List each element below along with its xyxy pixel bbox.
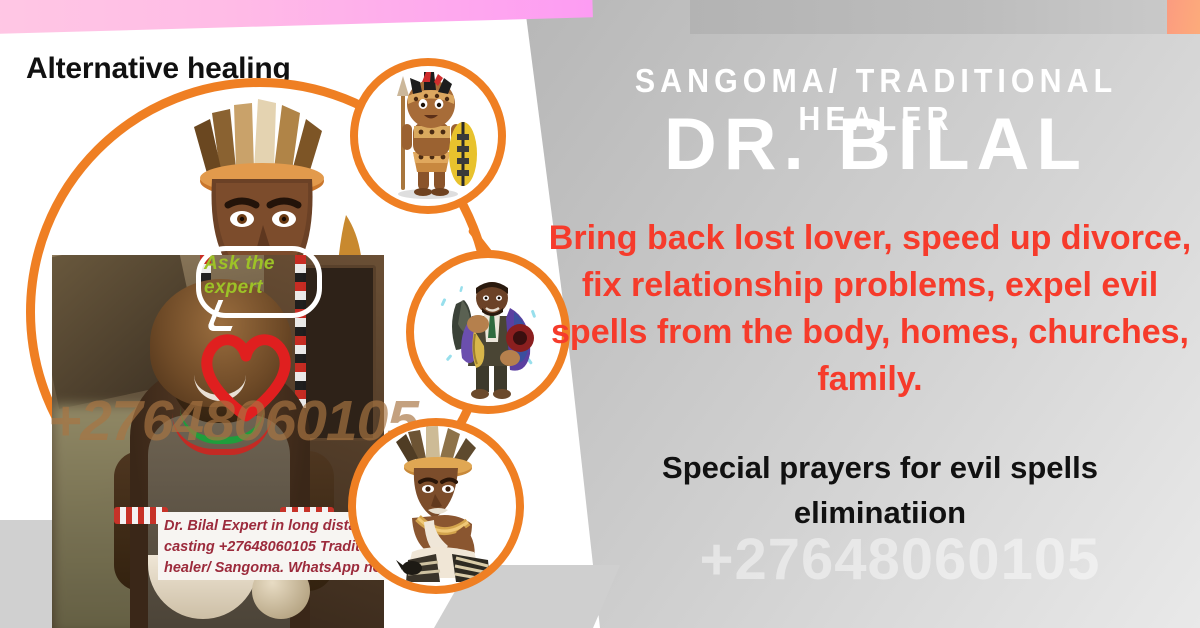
top-orange-bar — [1167, 0, 1200, 34]
speech-bubble-text: Ask the expert — [204, 252, 308, 300]
poster-canvas: Alternative healing — [0, 0, 1200, 628]
doctor-name-headline: DR. BILAL — [566, 105, 1186, 185]
bubble-zulu-warrior — [350, 58, 506, 214]
photo-watermark-phone: +27648060105 — [48, 388, 418, 454]
watermark-phone-number: +27648060105 — [600, 526, 1200, 593]
top-gray-bar — [690, 0, 1170, 34]
gray-left-strip — [0, 520, 52, 628]
special-prayers-paragraph: Special prayers for evil spells eliminat… — [580, 445, 1180, 535]
caption-line-3: healer/ Sangoma. WhatsApp no — [164, 558, 400, 579]
bubble-kneeling-sangoma — [348, 418, 524, 594]
services-paragraph: Bring back lost lover, speed up divorce,… — [540, 215, 1200, 403]
